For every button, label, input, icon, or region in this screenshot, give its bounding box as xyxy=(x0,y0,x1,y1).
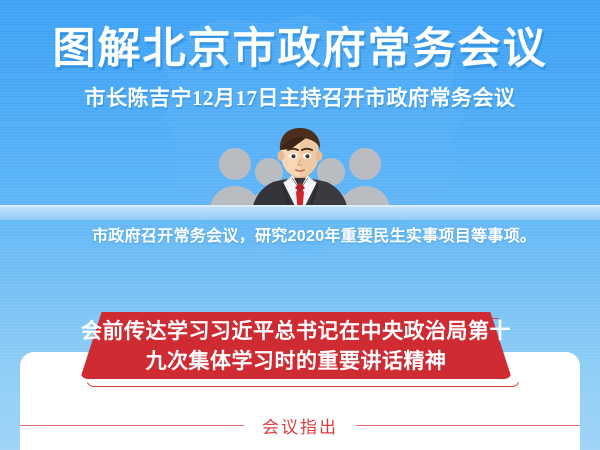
page-subtitle: 市长陈吉宁12月17日主持召开市政府常务会议 xyxy=(0,84,600,112)
highlight-banner-text: 会前传达学习习近平总书记在中央政治局第十九次集体学习时的重要讲话精神 xyxy=(80,312,512,379)
header-titles: 图解北京市政府常务会议 市长陈吉宁12月17日主持召开市政府常务会议 xyxy=(0,24,600,112)
intro-paragraph: 市政府召开常务会议，研究2020年重要民生实事项目等事项。 xyxy=(60,222,550,252)
rule-right xyxy=(356,425,580,426)
infographic-poster: 图解北京市政府常务会议 市长陈吉宁12月17日主持召开市政府常务会议 xyxy=(0,0,600,450)
rule-left xyxy=(20,425,244,426)
official-illustration xyxy=(195,118,405,216)
section-heading: 会议指出 xyxy=(20,413,580,438)
section-label: 会议指出 xyxy=(262,413,338,438)
meeting-desk-band xyxy=(0,205,600,220)
page-title: 图解北京市政府常务会议 xyxy=(0,24,600,76)
